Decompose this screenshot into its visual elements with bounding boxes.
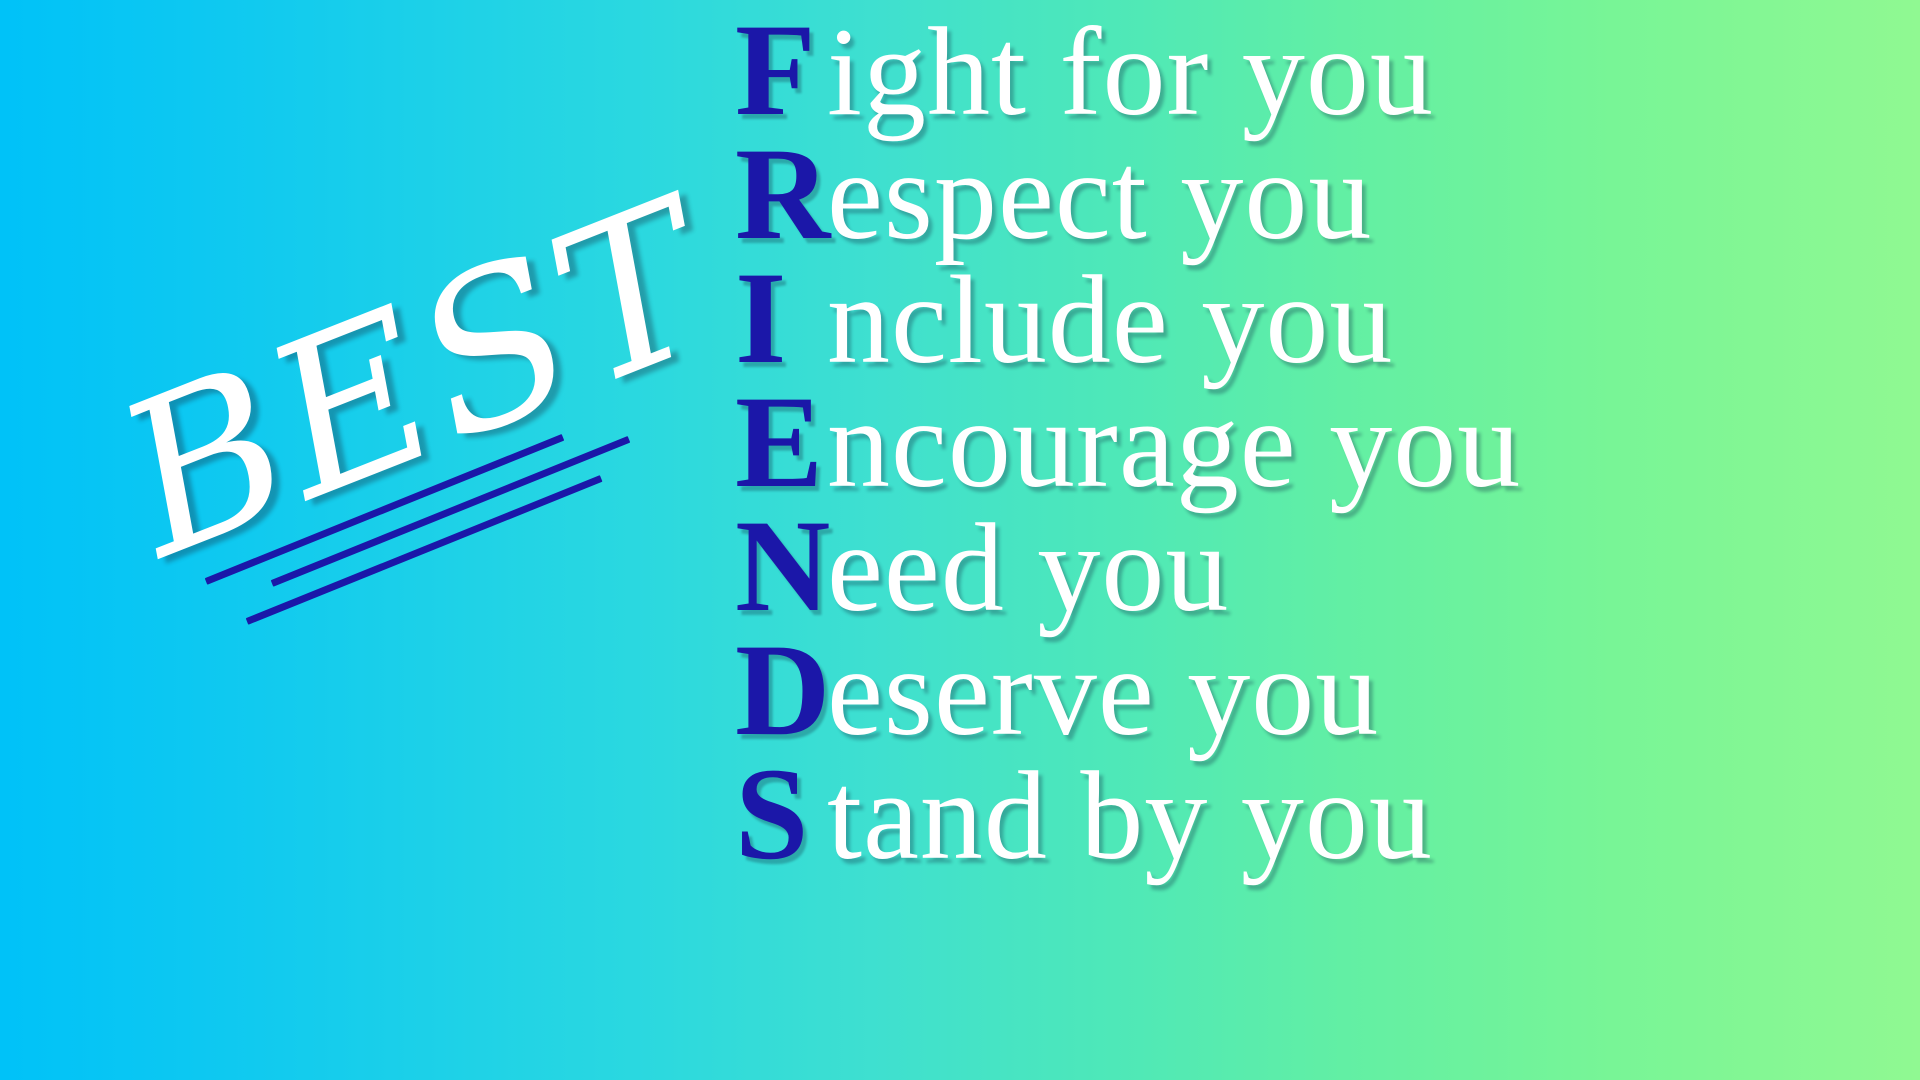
friends-acrostic-list: F ight for you R espect you I nclude you… [735,0,1920,1080]
acrostic-row-s: S tand by you [735,752,1920,876]
acrostic-text-e: ncourage you [827,383,1521,507]
acrostic-row-e: E ncourage you [735,380,1920,504]
acrostic-text-n: eed you [827,507,1229,631]
acrostic-text-f: ight for you [827,11,1434,135]
best-wordart-group: BEST [0,0,720,1080]
acrostic-text-d: eserve you [827,631,1379,755]
acrostic-initial-n: N [735,504,827,628]
acrostic-text-i: nclude you [827,259,1393,383]
acrostic-row-i: I nclude you [735,256,1920,380]
acrostic-initial-d: D [735,628,827,752]
poster-canvas: BEST F ight for you R espect you I nclud… [0,0,1920,1080]
acrostic-initial-f: F [735,8,827,132]
acrostic-text-r: espect you [827,135,1372,259]
acrostic-row-n: N eed you [735,504,1920,628]
acrostic-initial-i: I [735,256,827,380]
acrostic-initial-e: E [735,380,827,504]
best-wordart-text: BEST [96,221,610,589]
acrostic-row-d: D eserve you [735,628,1920,752]
acrostic-initial-s: S [735,752,827,876]
acrostic-row-f: F ight for you [735,8,1920,132]
acrostic-initial-r: R [735,132,827,256]
acrostic-text-s: tand by you [827,755,1433,879]
acrostic-row-r: R espect you [735,132,1920,256]
